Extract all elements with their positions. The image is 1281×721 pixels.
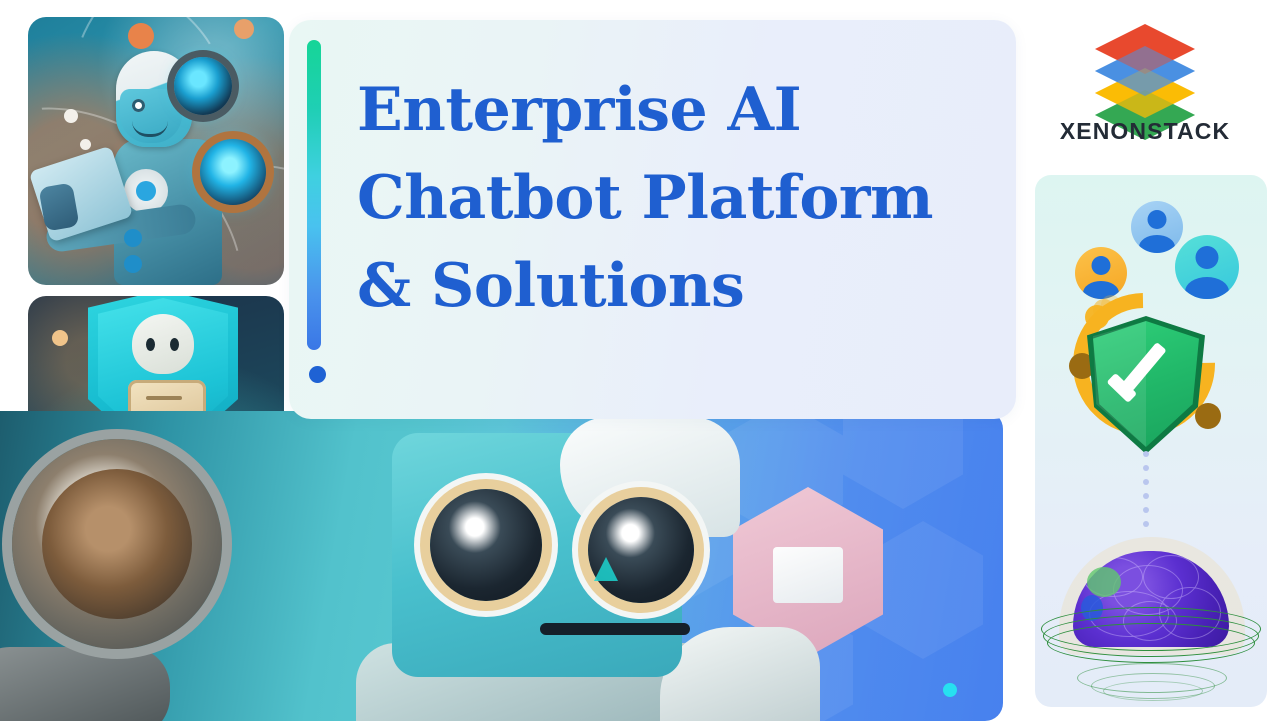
ai-brain-graphic	[1041, 533, 1261, 683]
trusted-ai-side-panel	[1035, 175, 1267, 707]
avatar-head	[1092, 256, 1111, 275]
page-title: Enterprise AI Chatbot Platform & Solutio…	[357, 66, 997, 331]
glow-dot	[943, 683, 957, 697]
page-title-line-3: & Solutions	[357, 242, 997, 330]
planet-decoration	[128, 23, 154, 49]
orbit-ring-6	[1103, 681, 1203, 701]
accent-dot	[309, 366, 326, 383]
brain-highlight-green	[1087, 567, 1121, 597]
shield-robot-eye-right	[170, 338, 179, 351]
robot-button-2	[124, 255, 142, 273]
shield-robot-eye-left	[146, 338, 155, 351]
user-avatar-left	[1075, 247, 1127, 299]
robot-head-lens	[174, 57, 232, 115]
avatar-body	[1185, 277, 1229, 299]
hologram-inner-card	[773, 547, 843, 603]
robot-shoulder-lens	[200, 139, 266, 205]
robot-eye	[132, 99, 145, 112]
dotted-connector	[1143, 451, 1149, 537]
orb-decoration-1	[52, 330, 68, 346]
brand-logo[interactable]: XENONSTACK	[1050, 24, 1240, 154]
page-title-line-2: Chatbot Platform	[357, 154, 997, 242]
top-left-robot-illustration	[28, 17, 284, 285]
avatar-head	[1148, 210, 1167, 229]
stacked-layers-icon	[1095, 24, 1195, 114]
hero-title-card: Enterprise AI Chatbot Platform & Solutio…	[289, 20, 1016, 419]
main-robot-eye-left	[430, 489, 542, 601]
avatar-head	[1196, 246, 1219, 269]
user-avatar-right	[1175, 235, 1239, 299]
orbit-ring-3	[1047, 623, 1255, 663]
user-avatar-top	[1131, 201, 1183, 253]
main-robot-shoulder	[660, 627, 820, 721]
main-robot-arm	[0, 647, 170, 721]
avatar-body	[1139, 235, 1175, 253]
main-robot-eye-right	[588, 497, 694, 603]
dot-decoration-2	[80, 139, 91, 150]
robot-button-1	[124, 229, 142, 247]
robot-chest-core	[136, 181, 156, 201]
hex-decoration-1	[843, 411, 963, 509]
banner-stage: Enterprise AI Chatbot Platform & Solutio…	[0, 0, 1281, 721]
arc-cap-right	[1195, 403, 1221, 429]
dot-decoration	[64, 109, 78, 123]
plate-line-1	[146, 396, 182, 400]
planet-decoration-2	[234, 19, 254, 39]
brand-wordmark: XENONSTACK	[1050, 118, 1240, 145]
gradient-accent-bar	[307, 40, 321, 350]
checkmark-icon	[1109, 353, 1177, 393]
shield-robot-face	[132, 314, 194, 374]
main-chatbot-robot-illustration	[0, 411, 1003, 721]
main-robot-nose	[594, 557, 618, 581]
main-robot-ear-lens	[42, 469, 192, 619]
main-robot-mouth	[540, 623, 690, 635]
page-title-line-1: Enterprise AI	[357, 66, 997, 154]
